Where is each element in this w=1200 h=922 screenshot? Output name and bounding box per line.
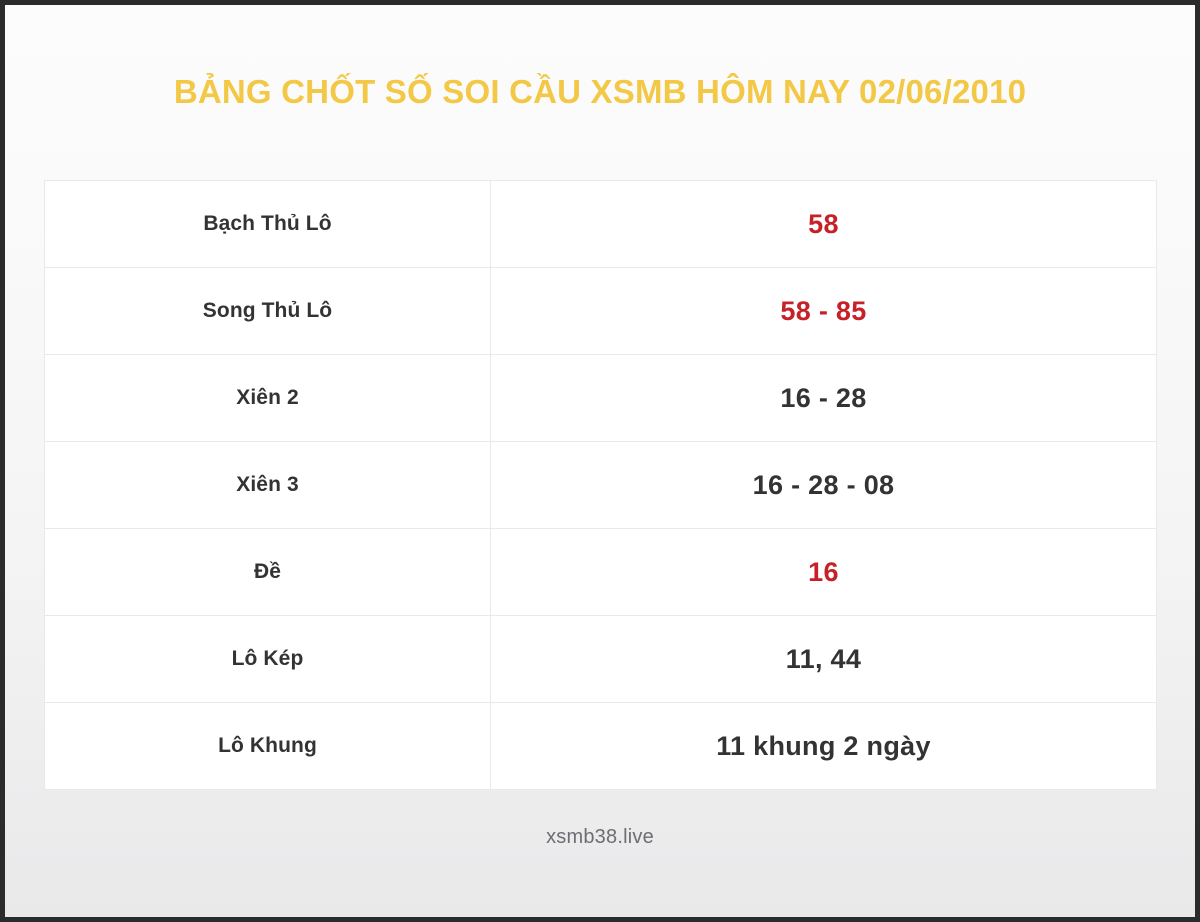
table-cell-label: Song Thủ Lô xyxy=(44,267,490,354)
row-value: 11, 44 xyxy=(786,644,861,674)
table-cell-label: Xiên 2 xyxy=(44,354,490,441)
row-value: 16 xyxy=(808,557,839,587)
table-cell-value: 58 - 85 xyxy=(490,267,1157,354)
row-value: 58 xyxy=(808,209,839,239)
row-label: Lô Kép xyxy=(232,647,304,670)
prediction-table: Bạch Thủ Lô 58 Song Thủ Lô 58 - 85 xyxy=(44,180,1157,790)
table-cell-value: 16 xyxy=(490,528,1157,615)
table-row: Lô Khung 11 khung 2 ngày xyxy=(44,702,1157,790)
row-label: Lô Khung xyxy=(218,734,317,757)
row-value: 58 - 85 xyxy=(780,296,866,326)
table-cell-value: 11 khung 2 ngày xyxy=(490,702,1157,790)
row-label: Xiên 3 xyxy=(236,473,298,496)
table-cell-value: 58 xyxy=(490,180,1157,267)
row-label: Bạch Thủ Lô xyxy=(203,212,331,235)
table-cell-value: 16 - 28 - 08 xyxy=(490,441,1157,528)
table-cell-label: Lô Kép xyxy=(44,615,490,702)
table-cell-label: Lô Khung xyxy=(44,702,490,790)
table-row: Xiên 2 16 - 28 xyxy=(44,354,1157,441)
page-frame: BẢNG CHỐT SỐ SOI CẦU XSMB HÔM NAY 02/06/… xyxy=(0,0,1200,922)
table-cell-label: Xiên 3 xyxy=(44,441,490,528)
footer-block: xsmb38.live xyxy=(44,790,1156,917)
page-title: BẢNG CHỐT SỐ SOI CẦU XSMB HÔM NAY 02/06/… xyxy=(174,74,1026,110)
table-cell-value: 11, 44 xyxy=(490,615,1157,702)
site-watermark: xsmb38.live xyxy=(546,826,654,849)
row-label: Xiên 2 xyxy=(236,386,298,409)
table-row: Xiên 3 16 - 28 - 08 xyxy=(44,441,1157,528)
row-value: 16 - 28 - 08 xyxy=(753,470,895,500)
row-label: Đề xyxy=(254,560,281,583)
table-cell-label: Đề xyxy=(44,528,490,615)
table-row: Song Thủ Lô 58 - 85 xyxy=(44,267,1157,354)
row-value: 11 khung 2 ngày xyxy=(716,731,931,761)
row-value: 16 - 28 xyxy=(780,383,866,413)
table-row: Lô Kép 11, 44 xyxy=(44,615,1157,702)
title-block: BẢNG CHỐT SỐ SOI CẦU XSMB HÔM NAY 02/06/… xyxy=(44,5,1156,180)
table-cell-label: Bạch Thủ Lô xyxy=(44,180,490,267)
page-content: BẢNG CHỐT SỐ SOI CẦU XSMB HÔM NAY 02/06/… xyxy=(5,5,1195,917)
table-row: Đề 16 xyxy=(44,528,1157,615)
table-cell-value: 16 - 28 xyxy=(490,354,1157,441)
row-label: Song Thủ Lô xyxy=(203,299,332,322)
table-row: Bạch Thủ Lô 58 xyxy=(44,180,1157,267)
prediction-table-body: Bạch Thủ Lô 58 Song Thủ Lô 58 - 85 xyxy=(44,180,1157,790)
